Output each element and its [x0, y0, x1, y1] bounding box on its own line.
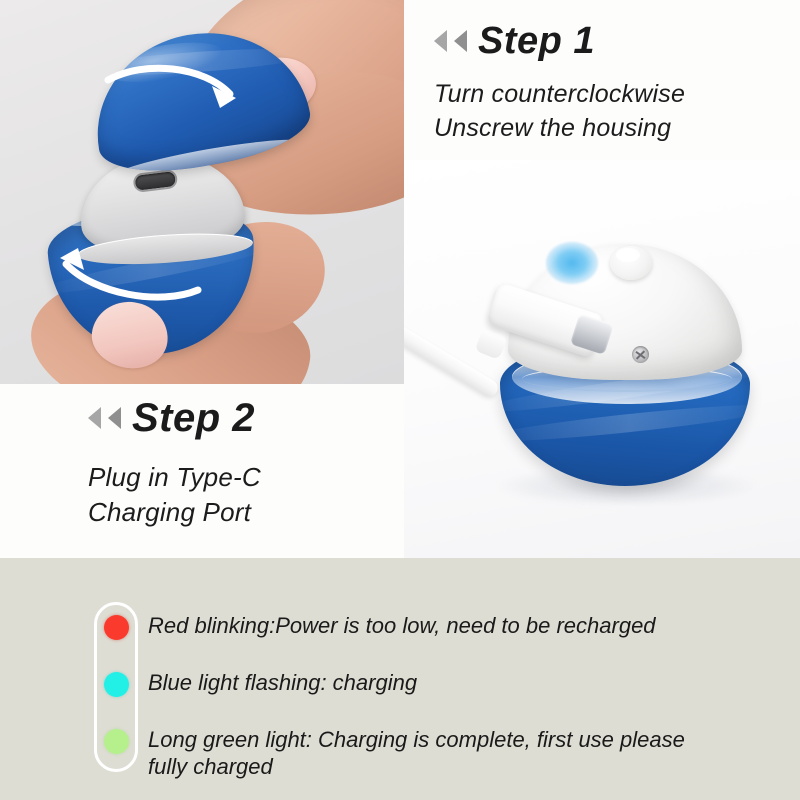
legend-item-label-group: Long green light: Charging is complete, …: [148, 716, 708, 781]
step-1-block: Step 1 Turn counterclockwise Unscrew the…: [434, 22, 774, 145]
blue-led-indicator: [546, 242, 598, 284]
step-1-title: Step 1: [478, 22, 595, 60]
usb-cable-collar: [474, 328, 507, 360]
red-indicator-dot: [104, 615, 129, 640]
white-nub: [610, 246, 652, 280]
legend-rows: Red blinking:Power is too low, need to b…: [94, 602, 754, 781]
dot-wrapper: [94, 716, 138, 766]
step-2-body-line-1: Plug in Type-C: [88, 462, 261, 492]
step-2-title: Step 2: [132, 398, 255, 438]
dot-wrapper: [94, 659, 138, 709]
list-item: Blue light flashing: charging: [94, 659, 754, 716]
step-1-heading: Step 1: [434, 22, 774, 60]
step-2-block: Step 2 Plug in Type-C Charging Port: [88, 398, 408, 530]
legend-item-label-line-2: fully charged: [148, 754, 708, 781]
led-status-legend: Red blinking:Power is too low, need to b…: [0, 558, 800, 800]
ball-charging-with-usb-c-cable-photo: [404, 160, 800, 558]
step-2-heading: Step 2: [88, 398, 408, 438]
step-1-body-line-1: Turn counterclockwise: [434, 80, 685, 108]
legend-item-label: Long green light: Charging is complete, …: [148, 727, 685, 752]
step-1-body: Turn counterclockwise Unscrew the housin…: [434, 78, 774, 145]
dot-wrapper: [94, 602, 138, 652]
screw-icon: [632, 346, 649, 363]
hands-unscrewing-ball-photo: [0, 0, 404, 384]
double-left-triangle-icon: [454, 30, 467, 52]
green-indicator-dot: [104, 729, 129, 754]
step-2-body-line-2: Charging Port: [88, 497, 251, 527]
step-2-body: Plug in Type-C Charging Port: [88, 460, 408, 530]
top-white-area: Step 1 Turn counterclockwise Unscrew the…: [0, 0, 800, 558]
infographic-page: Step 1 Turn counterclockwise Unscrew the…: [0, 0, 800, 800]
double-left-triangle-icon: [88, 407, 101, 429]
list-item: Red blinking:Power is too low, need to b…: [94, 602, 754, 659]
list-item: Long green light: Charging is complete, …: [94, 716, 754, 781]
double-left-triangle-icon: [434, 30, 447, 52]
legend-item-label: Red blinking:Power is too low, need to b…: [148, 602, 656, 640]
legend-item-label: Blue light flashing: charging: [148, 659, 417, 697]
step-1-body-line-2: Unscrew the housing: [434, 114, 671, 142]
cyan-indicator-dot: [104, 672, 129, 697]
double-left-triangle-icon: [108, 407, 121, 429]
